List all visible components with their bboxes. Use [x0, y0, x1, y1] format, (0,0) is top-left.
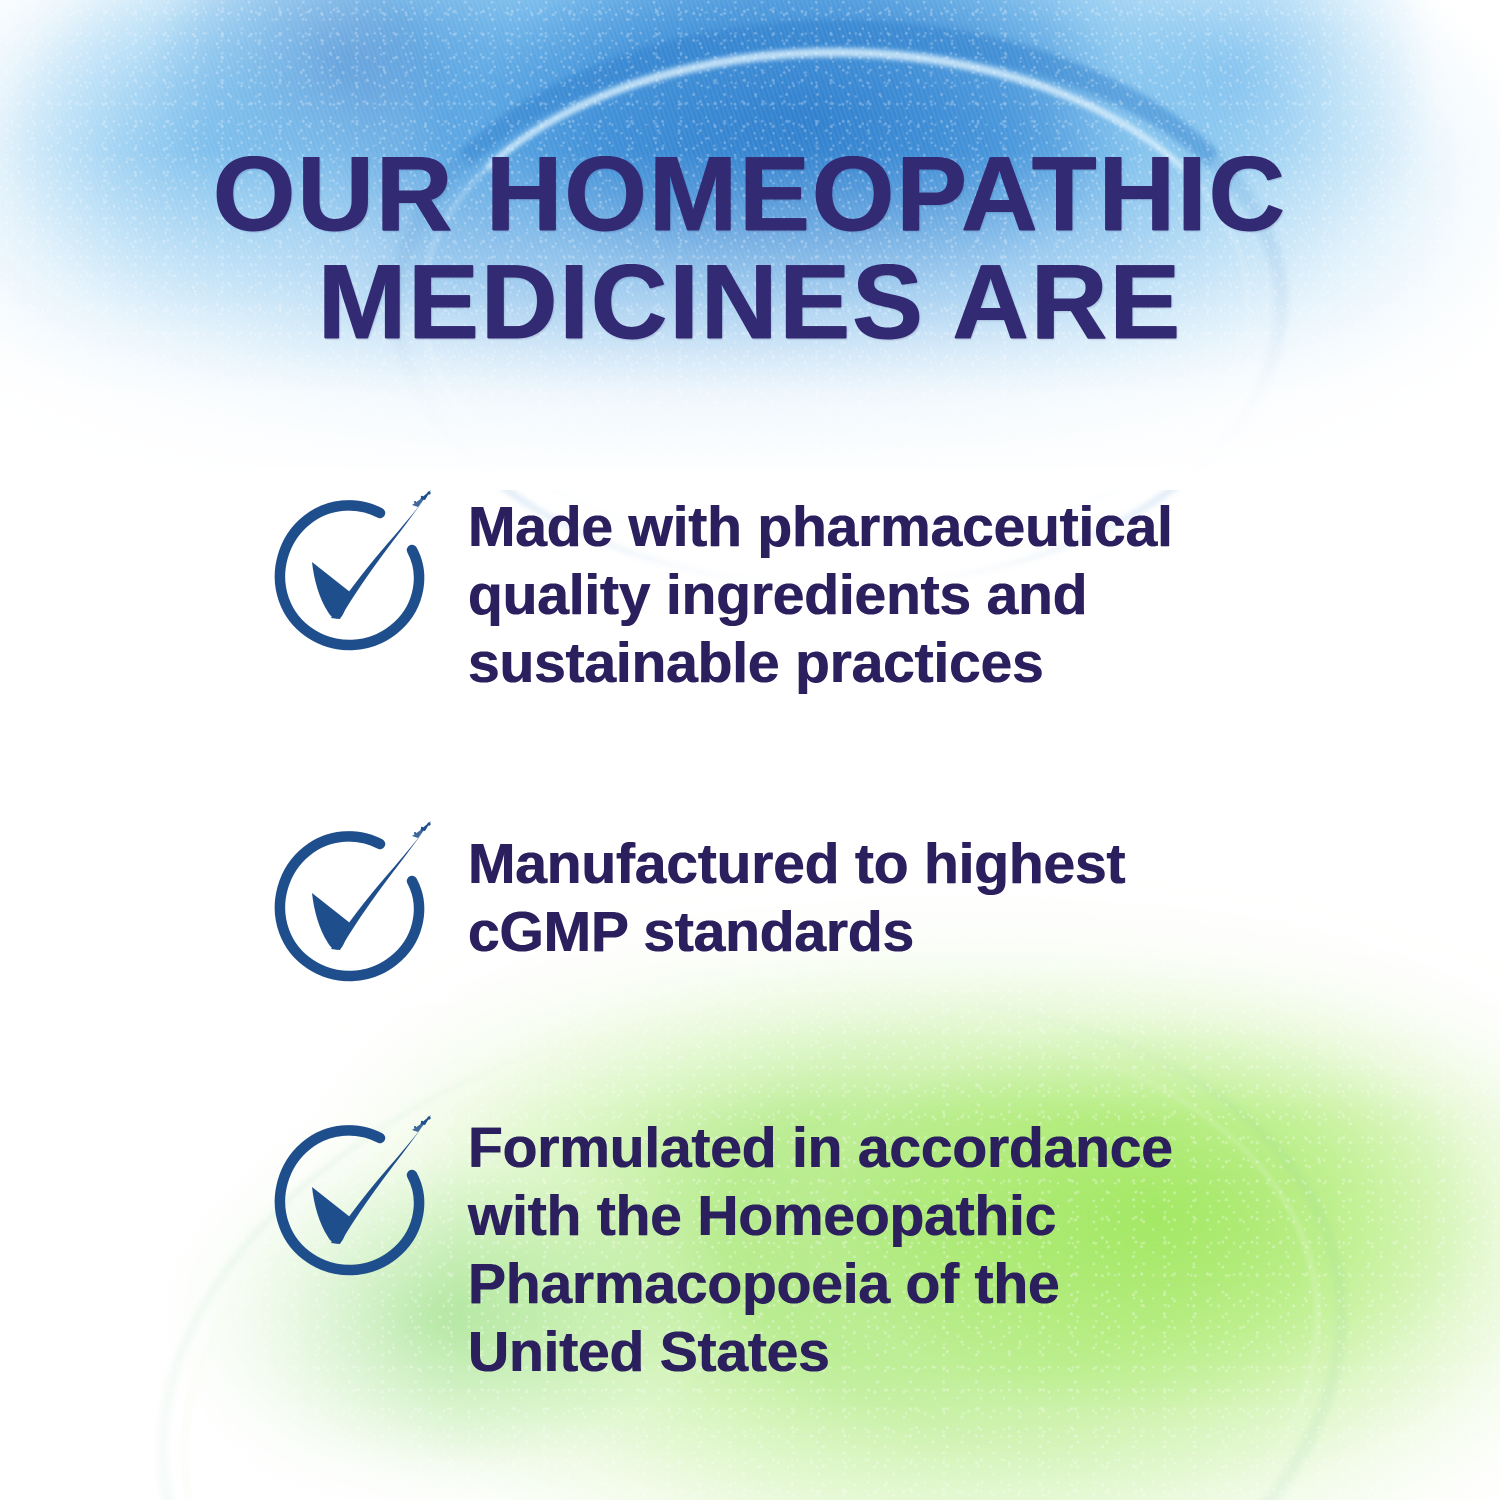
list-item-label: Made with pharmaceutical quality ingredi… — [468, 470, 1228, 697]
list-item: Formulated in accordance with the Homeop… — [262, 1095, 1262, 1386]
check-circle-icon — [262, 819, 434, 991]
page-title-line-2: MEDICINES ARE — [0, 248, 1500, 356]
check-circle-icon — [262, 1113, 434, 1285]
list-item: Made with pharmaceutical quality ingredi… — [262, 470, 1262, 697]
list-item-label: Manufactured to highest cGMP standards — [468, 801, 1228, 967]
infographic-canvas: OUR HOMEOPATHIC MEDICINES ARE — [0, 0, 1500, 1500]
content-area: OUR HOMEOPATHIC MEDICINES ARE — [0, 0, 1500, 1500]
list-item-label: Formulated in accordance with the Homeop… — [468, 1095, 1228, 1386]
page-title-line-1: OUR HOMEOPATHIC — [0, 140, 1500, 248]
benefits-list: Made with pharmaceutical quality ingredi… — [262, 470, 1262, 1387]
check-circle-icon — [262, 488, 434, 660]
page-title: OUR HOMEOPATHIC MEDICINES ARE — [0, 140, 1500, 356]
list-item: Manufactured to highest cGMP standards — [262, 801, 1262, 991]
